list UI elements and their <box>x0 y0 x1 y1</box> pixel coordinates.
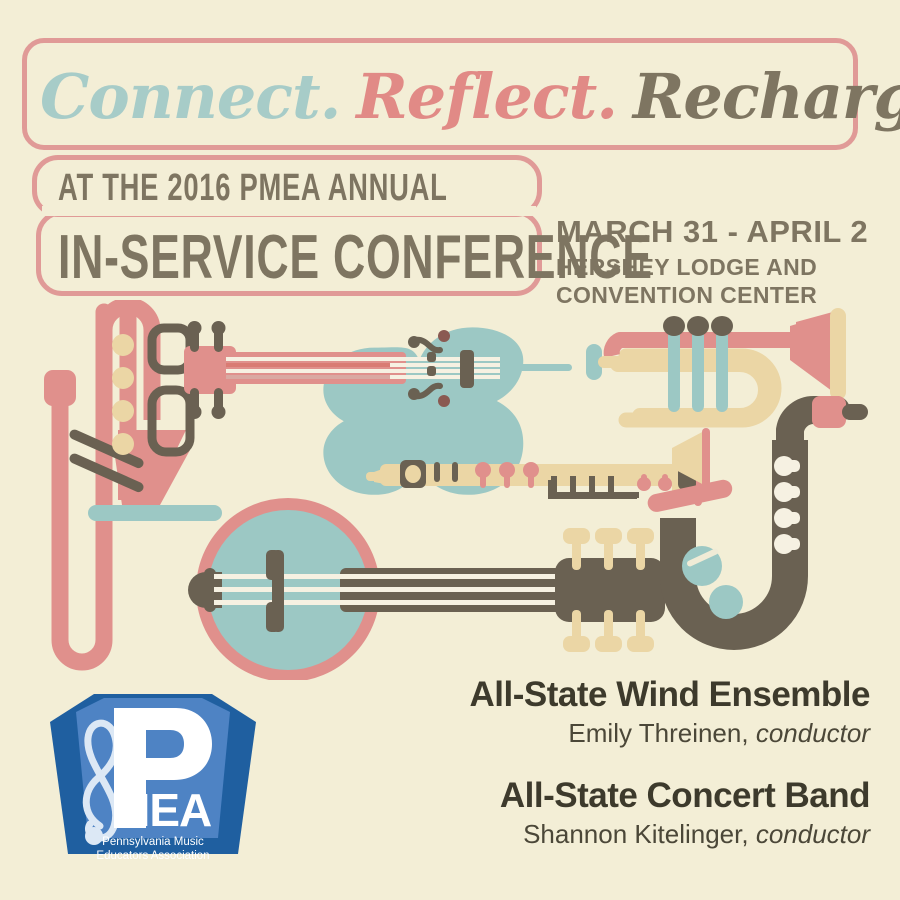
ensemble-1-name: All-State Wind Ensemble <box>380 676 870 715</box>
ensemble-2-conductor: Shannon Kitelinger, conductor <box>380 818 870 851</box>
saxophone-icon <box>646 396 868 632</box>
ensemble-1-conductor-name: Emily Threinen, <box>568 718 748 748</box>
ensemble-2: All-State Concert Band Shannon Kitelinge… <box>380 777 870 850</box>
logo-caption-line-2: Educators Association <box>96 850 209 862</box>
ensemble-1: All-State Wind Ensemble Emily Threinen, … <box>380 676 870 749</box>
logo-caption-line-1: Pennsylvania Music <box>102 836 204 848</box>
event-date: MARCH 31 - APRIL 2 <box>556 216 886 248</box>
headline-word-reflect: Reflect. <box>356 60 617 133</box>
date-venue-block: MARCH 31 - APRIL 2 HERSHEY LODGE AND CON… <box>556 216 886 309</box>
headline-word-connect: Connect. <box>40 60 340 133</box>
ensemble-1-conductor: Emily Threinen, conductor <box>380 717 870 750</box>
ensemble-2-name: All-State Concert Band <box>380 777 870 816</box>
poster-canvas: Connect. Reflect. Recharge. AT THE 2016 … <box>0 0 900 900</box>
headline-word-recharge: Recharge. <box>633 60 900 133</box>
headline: Connect. Reflect. Recharge. <box>40 58 840 134</box>
ensemble-2-conductor-name: Shannon Kitelinger, <box>523 819 749 849</box>
ensemble-2-conductor-role: conductor <box>756 819 870 849</box>
ensemble-credits: All-State Wind Ensemble Emily Threinen, … <box>380 676 870 850</box>
banjo-icon <box>188 498 665 680</box>
frame-overlap-mask-right <box>560 150 590 220</box>
annual-line: AT THE 2016 PMEA ANNUAL <box>58 167 448 210</box>
instrument-illustration <box>0 300 900 680</box>
venue-line-1: HERSHEY LODGE AND <box>556 253 886 281</box>
pmea-logo: MEA Pennsylvania Music Educators Associa… <box>42 686 264 866</box>
ensemble-1-conductor-role: conductor <box>756 718 870 748</box>
logo-acronym-mea: MEA <box>112 784 211 836</box>
